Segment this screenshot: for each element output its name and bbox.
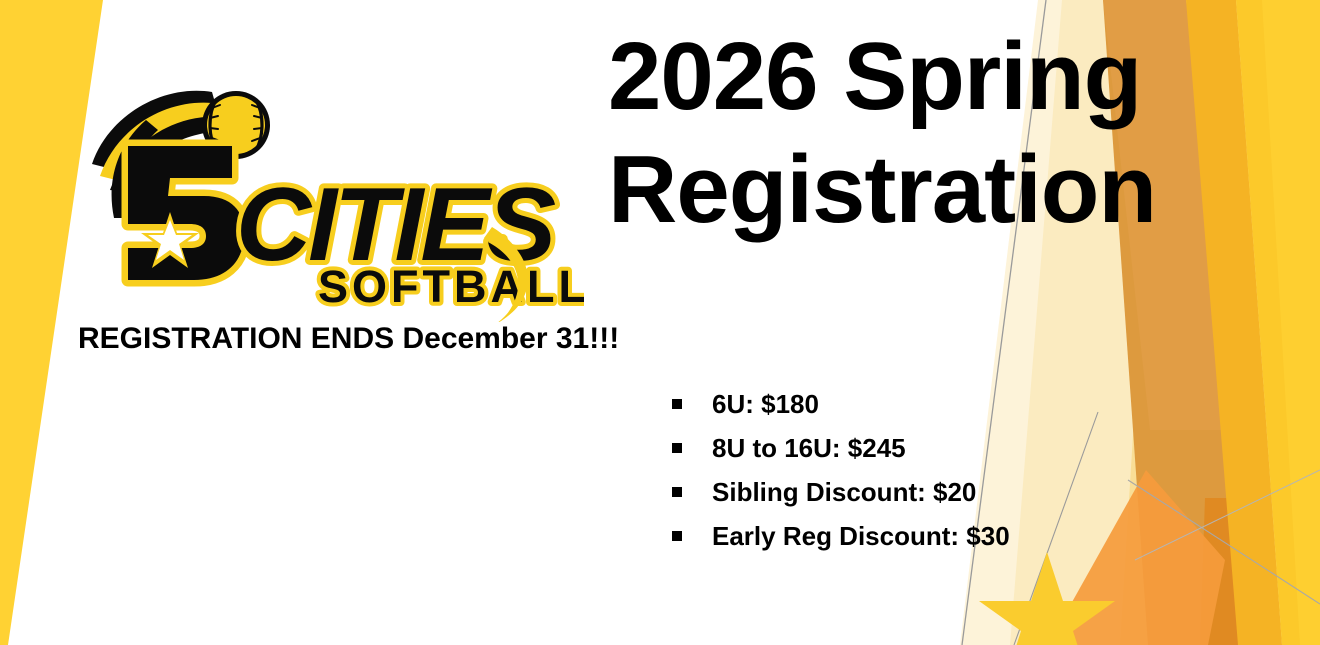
- list-item: Early Reg Discount: $30: [672, 514, 1010, 558]
- list-item-label: 6U: $180: [712, 389, 819, 420]
- registration-flyer: 5 Cities Softball logo: [0, 0, 1320, 645]
- square-bullet-icon: [672, 487, 682, 497]
- list-item-label: Early Reg Discount: $30: [712, 521, 1010, 552]
- hairline-diagonal-4: [1135, 470, 1320, 560]
- band-deep-orange: [1200, 498, 1262, 645]
- hairline-diagonal-2: [1014, 412, 1098, 645]
- band-bright-yellow: [1236, 0, 1320, 645]
- logo-wordmark-softball: SOFTBALL SOFTBALL: [318, 261, 584, 312]
- registration-deadline-text: REGISTRATION ENDS December 31!!!: [78, 322, 619, 356]
- page-title-line-1: 2026 Spring: [608, 20, 1248, 133]
- band-gold-sliver: [1262, 0, 1320, 645]
- pricing-list: 6U: $180 8U to 16U: $245 Sibling Discoun…: [672, 382, 1010, 558]
- list-item-label: Sibling Discount: $20: [712, 477, 976, 508]
- page-title-line-2: Registration: [608, 133, 1248, 246]
- list-item: 6U: $180: [672, 382, 1010, 426]
- square-bullet-icon: [672, 531, 682, 541]
- page-title: 2026 Spring Registration: [608, 20, 1248, 247]
- band-light-orange: [1048, 470, 1225, 645]
- list-item: 8U to 16U: $245: [672, 426, 1010, 470]
- square-bullet-icon: [672, 399, 682, 409]
- star-icon: [979, 552, 1115, 645]
- logo-numeral-5: [128, 146, 244, 280]
- hairline-diagonal-3: [1128, 480, 1320, 604]
- logo-5-cities-softball: 5 Cities Softball logo: [84, 72, 584, 322]
- list-item-label: 8U to 16U: $245: [712, 433, 906, 464]
- list-item: Sibling Discount: $20: [672, 470, 1010, 514]
- svg-text:SOFTBALL: SOFTBALL: [318, 261, 584, 312]
- square-bullet-icon: [672, 443, 682, 453]
